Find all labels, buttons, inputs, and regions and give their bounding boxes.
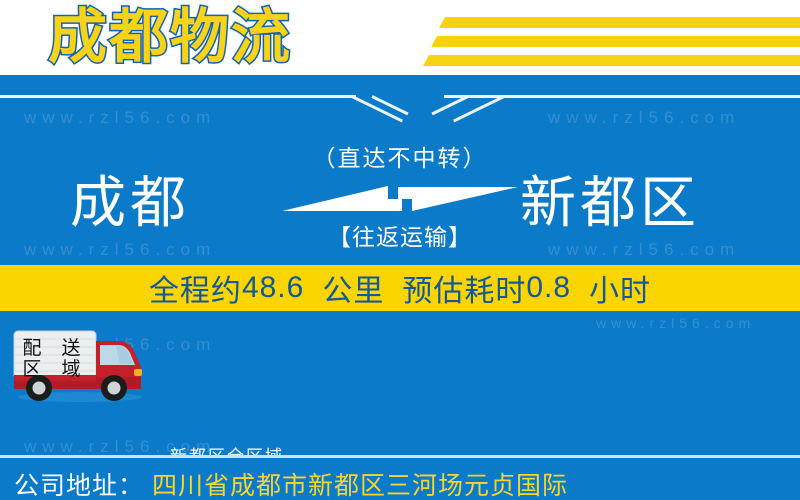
bidirectional-arrow-icon bbox=[280, 178, 520, 216]
duration-unit: 小时 bbox=[589, 266, 651, 310]
watermark: www.rzl56.com bbox=[24, 108, 216, 128]
distance-value: 48.6 bbox=[242, 271, 304, 305]
truck-box-char-3: 域 bbox=[61, 358, 80, 380]
poster-footer: 公司地址： 四川省成都市新都区三河场元贞国际 bbox=[0, 458, 800, 500]
header-stripe-3 bbox=[423, 55, 800, 66]
divider-rule-left bbox=[0, 95, 356, 98]
header-stripe-2 bbox=[431, 36, 800, 47]
logistics-route-poster: 成都物流 www.rzl56.com www.rzl56.com www.rzl… bbox=[0, 0, 800, 500]
distance-prefix: 全程约 bbox=[149, 266, 242, 310]
watermark: www.rzl56.com bbox=[596, 315, 755, 331]
company-address-label: 公司地址： bbox=[14, 472, 144, 500]
route-destination: 新都区 bbox=[520, 173, 700, 233]
route-note-direct: （直达不中转） bbox=[270, 139, 530, 173]
poster-header: 成都物流 bbox=[0, 0, 800, 75]
delivery-area-label: 新都区全区域 bbox=[170, 442, 284, 455]
poster-body: www.rzl56.com www.rzl56.com www.rzl56.co… bbox=[0, 75, 800, 455]
truck-box-char-1: 送 bbox=[61, 337, 80, 359]
watermark: www.rzl56.com bbox=[548, 240, 740, 260]
watermark: www.rzl56.com bbox=[548, 108, 740, 128]
company-address-value: 四川省成都市新都区三河场元贞国际 bbox=[152, 472, 568, 500]
truck-box-char-2: 区 bbox=[22, 358, 41, 380]
delivery-truck-icon: 配 送 区 域 bbox=[8, 325, 158, 405]
distance-bar: 全程约 48.6 公里 预估耗时 0.8 小时 bbox=[0, 265, 800, 311]
company-address-line: 公司地址： 四川省成都市新都区三河场元贞国际 bbox=[14, 466, 568, 500]
duration-value: 0.8 bbox=[526, 271, 571, 305]
watermark: www.rzl56.com bbox=[24, 240, 216, 260]
header-stripe-1 bbox=[439, 17, 800, 28]
truck-box-char-0: 配 bbox=[22, 337, 41, 359]
route-note-roundtrip: 【往返运输】 bbox=[270, 218, 530, 252]
brand-title: 成都物流 bbox=[48, 2, 292, 72]
distance-text-group: 全程约 48.6 公里 预估耗时 0.8 小时 bbox=[0, 265, 800, 311]
route-origin: 成都 bbox=[70, 173, 190, 233]
duration-prefix: 预估耗时 bbox=[402, 266, 526, 310]
distance-unit: 公里 bbox=[322, 266, 384, 310]
chevron-down-icon-inner-mirror bbox=[431, 95, 468, 115]
chevron-down-icon-inner bbox=[371, 95, 408, 115]
